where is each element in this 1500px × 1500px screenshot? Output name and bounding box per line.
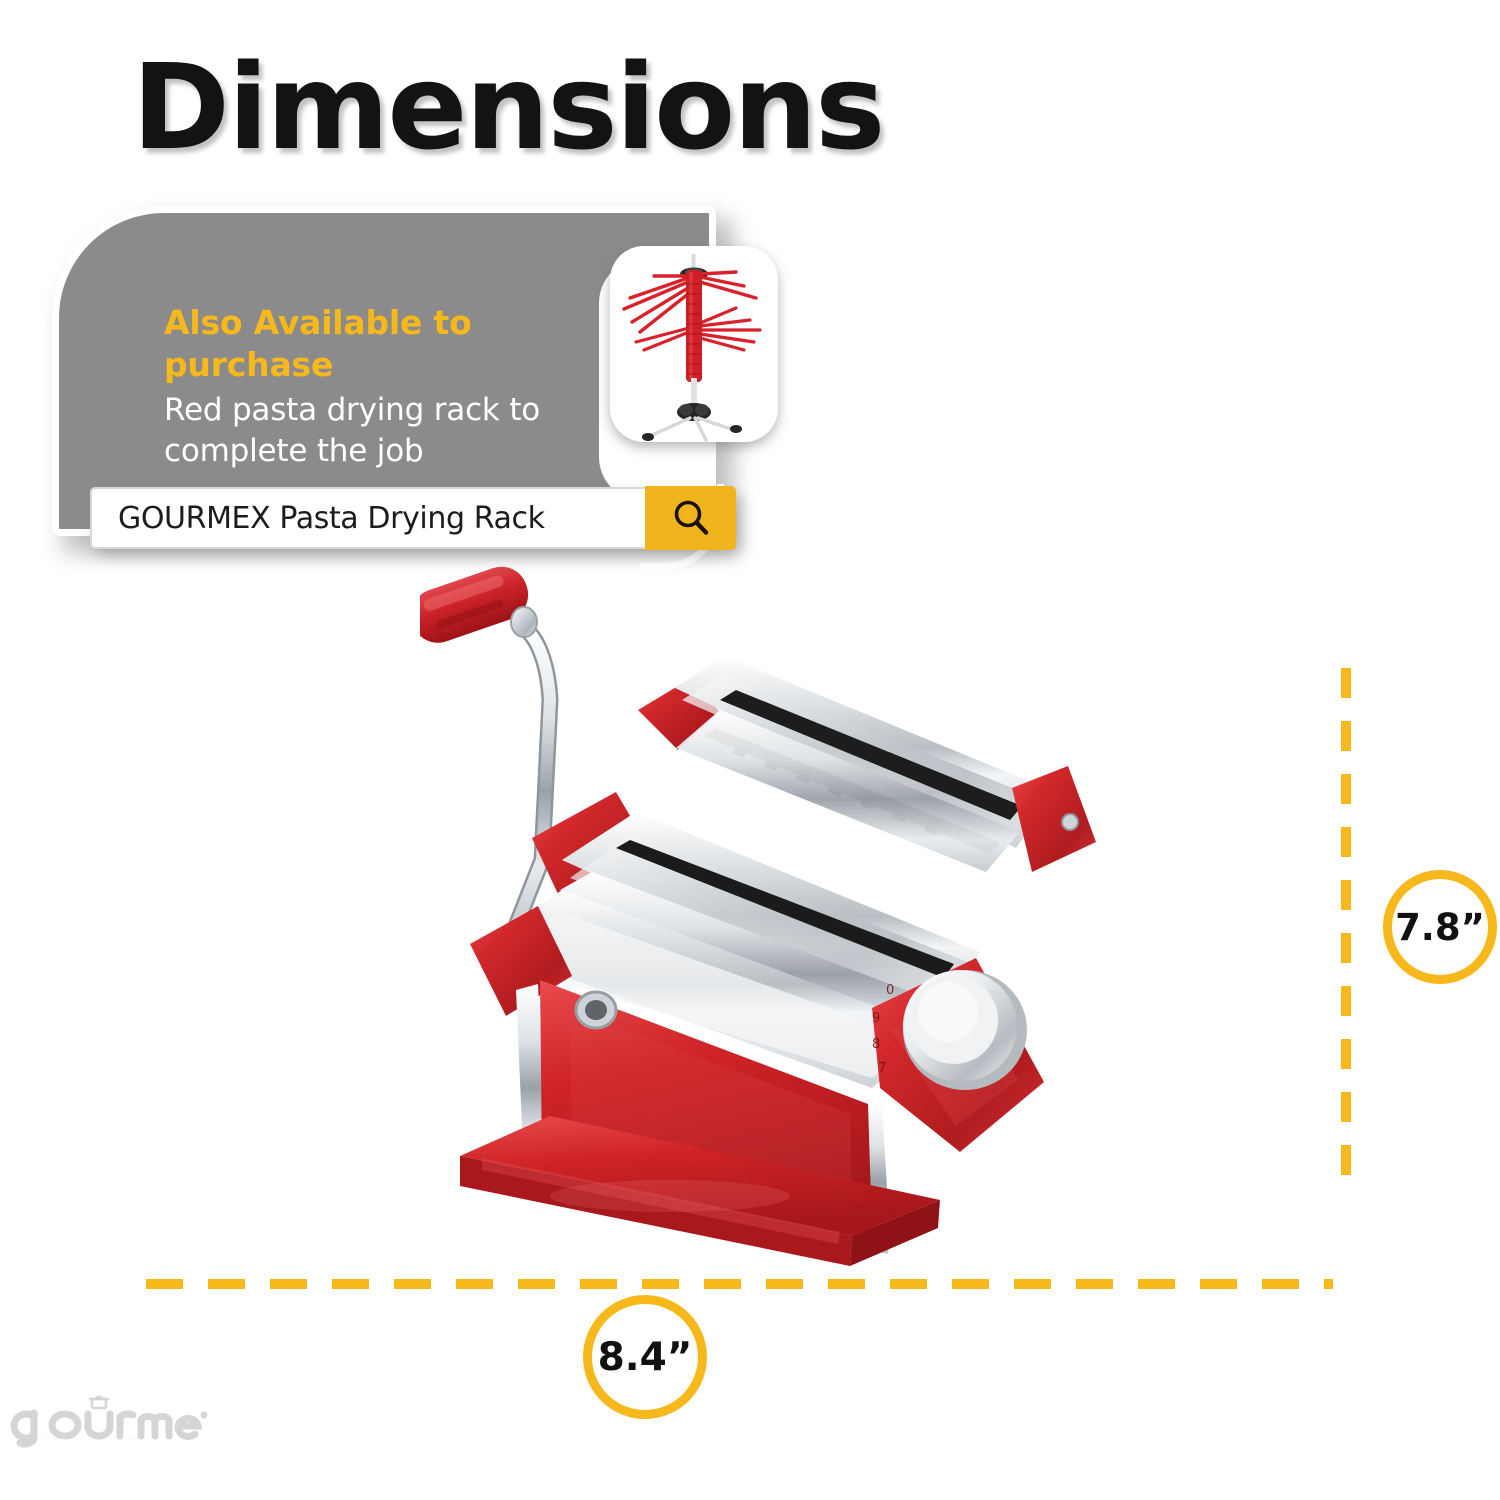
callout-heading: Also Available to purchase [164,302,584,386]
pasta-drying-rack-thumbnail[interactable] [610,246,778,442]
search-icon [669,496,713,540]
infographic-canvas: Dimensions Also Available to purchase Re… [0,0,1500,1500]
callout-subtext-line2: complete the job [164,431,584,471]
pasta-maker-illustration: 0 9 8 7 [420,560,1120,1290]
search-input-value: GOURMEX Pasta Drying Rack [92,501,545,536]
search-input[interactable]: GOURMEX Pasta Drying Rack [90,487,735,549]
svg-text:8: 8 [872,1037,880,1052]
width-dimension-badge: 8.4” [583,1295,707,1419]
height-dimension-badge: 7.8” [1383,870,1497,984]
svg-text:9: 9 [872,1011,880,1026]
svg-text:0: 0 [886,983,894,998]
width-dimension-line [146,1279,1333,1289]
crank-handle [420,560,550,926]
page-title: Dimensions [132,48,883,166]
height-dimension-line [1341,668,1351,1190]
cutter-attachment [638,656,1096,872]
callout-text-block: Also Available to purchase Red pasta dry… [164,302,584,471]
callout-subtext-line1: Red pasta drying rack to [164,390,584,430]
drying-rack-illustration [610,246,778,442]
search-bar[interactable]: GOURMEX Pasta Drying Rack [90,487,735,549]
pasta-maker-product-image: 0 9 8 7 [420,560,1120,1290]
search-button[interactable] [645,486,736,550]
gourmex-tagline: ·· ···· ········· [10,1432,154,1445]
svg-text:7: 7 [878,1061,886,1076]
